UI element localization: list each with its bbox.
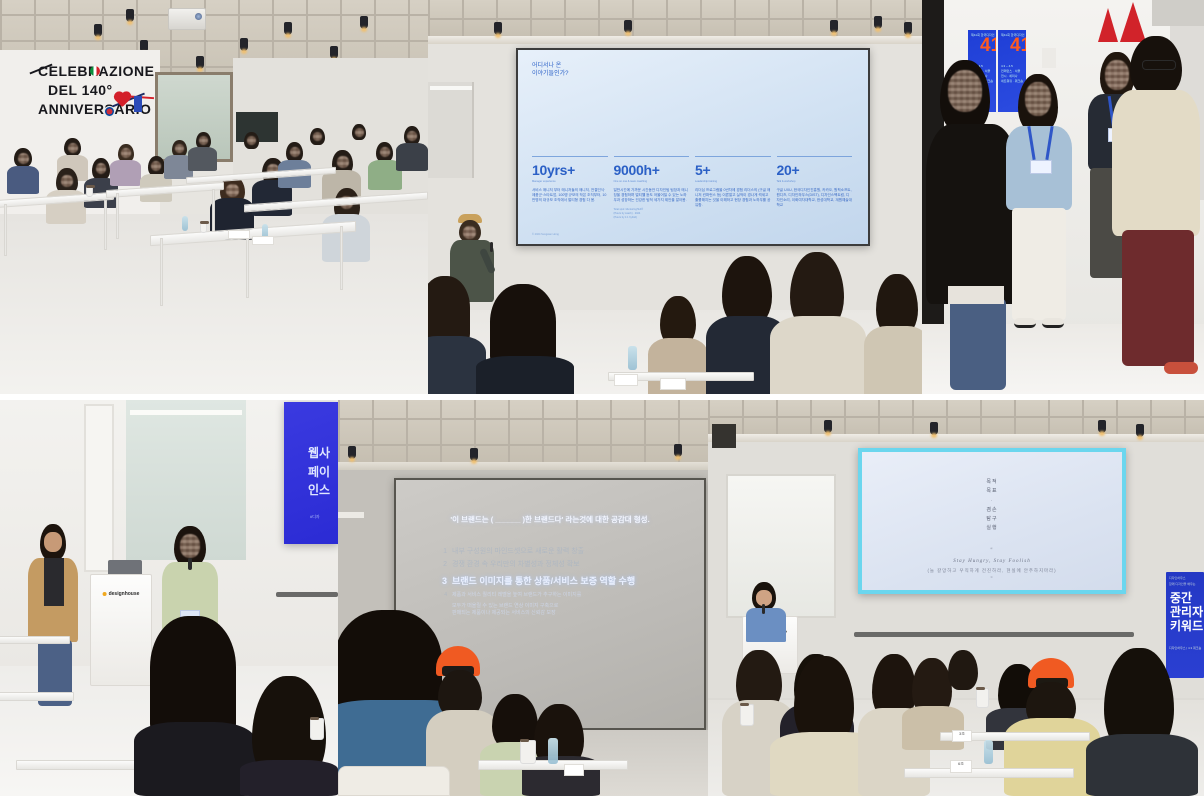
quote-open-mark: “ — [862, 546, 1122, 557]
word-5: 실행 — [862, 524, 1122, 533]
stat-caption: One on one & team coaching — [614, 180, 690, 183]
list-item: 3 브랜드 이미지를 통한 상품/서비스 보증 역할 수행 — [440, 574, 670, 587]
list-number: 1 — [440, 548, 447, 555]
quote-korean: (늘 갈망하고 우직하게 전진하라, 현실에 안주하지마라) — [862, 567, 1122, 575]
stat-description: 서비스 매니저 부터 매니저들의 매니저, 전결인식·제품군·스타트업, 100… — [532, 188, 608, 203]
laptop — [108, 560, 142, 574]
spotlight-icon — [126, 9, 134, 22]
poster-subtext: 4.3 ~ 4.5 컨퍼런스 · 서울 전시 · 세미나 네트워킹 · 워크숍 — [1001, 64, 1023, 84]
banner-line-1: 중간 — [1170, 592, 1192, 605]
spotlight-icon — [930, 422, 938, 435]
chair-back — [338, 766, 450, 796]
adobe-a-logo-icon — [1098, 8, 1118, 42]
table-name-card — [228, 230, 250, 239]
korean-flag-icon — [104, 106, 115, 117]
stat-column: 9000h+ One on one & team coaching 일만시간에 … — [614, 156, 696, 219]
italian-flag-icon — [90, 66, 100, 76]
quote-close-mark: ” — [862, 575, 1122, 586]
microphone — [762, 604, 765, 614]
photo-panel-hallway-networking[interactable]: 제41회 한국디자인 41 4.3 ~ 4.5 컨퍼런스 · 서울 전시 · 세… — [922, 0, 1204, 394]
spotlight-icon — [904, 22, 912, 35]
slide-title-line-2: 이야기들인가? — [532, 70, 568, 78]
word-2: 목표 — [862, 487, 1122, 496]
table-name-card — [614, 374, 638, 386]
list-item: 1 내부 구성원의 마인드셋으로 새로운 활력 창출 — [440, 546, 670, 556]
microphone — [188, 558, 192, 570]
stat-caption: Leadership training — [695, 180, 771, 183]
water-bottle — [548, 738, 558, 764]
intro-slide: 웹사 페이 인스 #디자 — [284, 402, 338, 544]
word-separator: · — [862, 497, 1122, 506]
ceiling-strip — [1152, 0, 1204, 26]
banner-header: 디자인하우스 — [1169, 576, 1186, 580]
slide-subline-2: 모두가 떠올릴 수 있는 브랜드 연상 이미지 구축으로 — [452, 603, 670, 611]
door-frame — [84, 404, 114, 572]
light-strip — [130, 410, 242, 415]
spotlight-icon — [470, 448, 478, 461]
banner-line-3: 키워드 — [1170, 620, 1203, 633]
coffee-cup — [976, 688, 989, 708]
stat-column: 20+ Talk & workshop 구글 UXU, 한국디자인진흥원, 카카… — [777, 156, 859, 219]
stat-rule — [695, 156, 771, 157]
podium-logo-text: designhouse — [109, 591, 140, 597]
side-door — [428, 82, 474, 178]
list-text: 내부 구성원의 마인드셋으로 새로운 활력 창출 — [452, 546, 584, 556]
speaker-box — [712, 424, 736, 448]
banner-footer: 디자인하우스 | 4.3 워크숍 — [1169, 646, 1201, 650]
side-table — [0, 692, 74, 701]
stats-row: 10yrs+ Manager experience 서비스 매니저 부터 매니저… — [532, 156, 858, 219]
slide-title-line-1: 어디서나 온 — [532, 62, 568, 70]
poster-number: 41 — [980, 38, 996, 54]
stat-column: 5+ Leadership training 리더십 프로그램을 0년차에 경험… — [695, 156, 777, 219]
spotlight-icon — [94, 24, 102, 37]
slide-title: 어디서나 온 이야기들인가? — [532, 62, 568, 78]
microphone — [490, 242, 493, 252]
adobe-a-logo-icon — [1120, 2, 1146, 42]
stat-number: 5+ — [695, 162, 771, 178]
slide-credit: © 2024 Sungwan Hong — [532, 233, 559, 236]
word-4: 탐구 — [862, 515, 1122, 524]
closing-slide: 목적 목표 · 겸손 탐구 실행 “ Stay Hungry, Stay Foo… — [862, 452, 1122, 590]
photo-panel-speaker-with-stats-slide[interactable]: 어디서나 온 이야기들인가? 10yrs+ Manager experience… — [428, 0, 922, 394]
stat-rule — [777, 156, 853, 157]
coffee-cup — [520, 740, 536, 764]
slide-headline: '이 브랜드는 ( ______ )한 브랜드다' 라는것에 대한 공감대 형성… — [396, 514, 704, 525]
light-strip — [430, 86, 472, 90]
photo-panel-brand-slide-audience[interactable]: '이 브랜드는 ( ______ )한 브랜드다' 라는것에 대한 공감대 형성… — [338, 400, 708, 796]
slide-list: 1 내부 구성원의 마인드셋으로 새로운 활력 창출 2 경쟁 환경 속 우리만… — [440, 546, 670, 618]
table-number-card: 3조 — [952, 730, 972, 742]
photo-panel-classroom-workshop-wide[interactable]: CELEBRAZIONE DEL 140° ANNIVERSARIO — [0, 0, 428, 394]
coffee-cup — [310, 718, 324, 740]
logo-dot-icon — [103, 592, 107, 596]
slide-hashtag: #디자 — [310, 514, 320, 520]
word-1: 목적 — [862, 478, 1122, 487]
presentation-screen: 웹사 페이 인스 #디자 — [284, 402, 338, 544]
podium: designhouse — [90, 574, 152, 686]
stat-source: Total spot: MentoringHub® (Hours by coac… — [614, 208, 690, 219]
projector — [168, 8, 206, 30]
spotlight-icon — [494, 22, 502, 35]
spotlight-icon — [284, 22, 292, 35]
photo-panel-two-hosts-on-stage[interactable]: 웹사 페이 인스 #디자 designhouse — [0, 400, 338, 796]
presentation-screen: 목적 목표 · 겸손 탐구 실행 “ Stay Hungry, Stay Foo… — [858, 448, 1126, 594]
mural-badge — [134, 96, 142, 112]
stat-caption: Talk & workshop — [777, 180, 853, 183]
slide-line-3: 인스 — [308, 481, 330, 500]
list-item: 4 제품과 서비스 퀄리티 레벨을 높여 브랜드가 추구하는 이미지를 — [440, 592, 670, 600]
screen-roller — [276, 592, 338, 597]
coffee-cup — [740, 704, 754, 726]
stat-number: 9000h+ — [614, 162, 690, 178]
quote-english: Stay Hungry, Stay Foolish — [862, 557, 1122, 567]
slide-line-2: 페이 — [308, 463, 330, 482]
table-name-card — [660, 378, 686, 390]
stats-slide: 어디서나 온 이야기들인가? 10yrs+ Manager experience… — [518, 50, 868, 244]
table-number-card: 6조 — [950, 760, 972, 773]
spotlight-icon — [1136, 424, 1144, 437]
banner-subheader: 함께 디자인을 배우는 — [1169, 582, 1196, 586]
stat-number: 10yrs+ — [532, 162, 608, 178]
water-bottle — [984, 740, 993, 764]
wall-panel — [1042, 48, 1056, 68]
table-name-card — [252, 236, 274, 245]
podium-logo: designhouse — [103, 591, 140, 597]
window-light — [726, 474, 836, 618]
stat-rule — [532, 156, 608, 157]
table-number: 3조 — [959, 731, 965, 736]
slide-words: 목적 목표 · 겸손 탐구 실행 — [862, 478, 1122, 534]
word-3: 겸손 — [862, 506, 1122, 515]
event-banner: 디자인하우스 함께 디자인을 배우는 중간 관리자 키워드 디자인하우스 | 4… — [1166, 572, 1204, 678]
list-number: 2 — [440, 561, 447, 568]
photo-collage: CELEBRAZIONE DEL 140° ANNIVERSARIO — [0, 0, 1204, 796]
photo-panel-speaker-closing-slide[interactable]: 목적 목표 · 겸손 탐구 실행 “ Stay Hungry, Stay Foo… — [708, 400, 1204, 796]
spotlight-icon — [830, 20, 838, 33]
spotlight-icon — [348, 446, 356, 459]
stat-description: 구글 UXU, 한국디자인진흥원, 카카오, 원픽소프트, 원디즈, 디자인하우… — [777, 188, 853, 208]
list-text: 경쟁 환경 속 우리만의 차별성과 정체성 확보 — [452, 559, 580, 569]
stat-number: 20+ — [777, 162, 853, 178]
spotlight-icon — [624, 20, 632, 33]
side-table — [0, 636, 70, 644]
slide-quote: “ Stay Hungry, Stay Foolish (늘 갈망하고 우직하게… — [862, 546, 1122, 587]
stat-column: 10yrs+ Manager experience 서비스 매니저 부터 매니저… — [532, 156, 614, 219]
spotlight-icon — [1098, 420, 1106, 433]
list-text: 브랜드 이미지를 통한 상품/서비스 보증 역할 수행 — [452, 574, 635, 587]
light-strip — [338, 512, 364, 518]
stat-caption: Manager experience — [532, 180, 608, 183]
poster-number: 41 — [1010, 38, 1026, 54]
spotlight-icon — [824, 420, 832, 433]
presentation-screen: 어디서나 온 이야기들인가? 10yrs+ Manager experience… — [516, 48, 870, 246]
spotlight-icon — [674, 444, 682, 457]
table-name-card — [564, 764, 584, 776]
stat-description: 일만시간에 가까운 시간동안 디자인팀 팀장과 매니징을 경험하며 멀티웰 듣도… — [614, 188, 690, 203]
name-badge — [1030, 160, 1052, 174]
list-item: 2 경쟁 환경 속 우리만의 차별성과 정체성 확보 — [440, 559, 670, 569]
list-text: 제품과 서비스 퀄리티 레벨을 높여 브랜드가 추구하는 이미지를 — [452, 592, 581, 600]
spotlight-icon — [240, 38, 248, 51]
spotlight-icon — [874, 16, 882, 29]
list-number: 3 — [440, 576, 447, 586]
desk-row — [904, 768, 1074, 778]
screen-roller — [854, 632, 1134, 637]
spotlight-icon — [196, 56, 204, 69]
water-bottle — [628, 346, 637, 370]
list-number: 4 — [440, 592, 447, 598]
slide-line-1: 웹사 — [308, 444, 330, 463]
stat-description: 리더십 프로그램을 0년차에 경험 리더스의 (구글 매니저 컨퍼런스 등) 이… — [695, 188, 771, 208]
slide-subline-3: 판매되는 제품이나 제공되는 서비스의 신뢰감 보장 — [452, 610, 670, 618]
table-number: 6조 — [958, 761, 964, 766]
spotlight-icon — [360, 16, 368, 29]
stat-rule — [614, 156, 690, 157]
banner-line-2: 관리자 — [1170, 606, 1203, 619]
